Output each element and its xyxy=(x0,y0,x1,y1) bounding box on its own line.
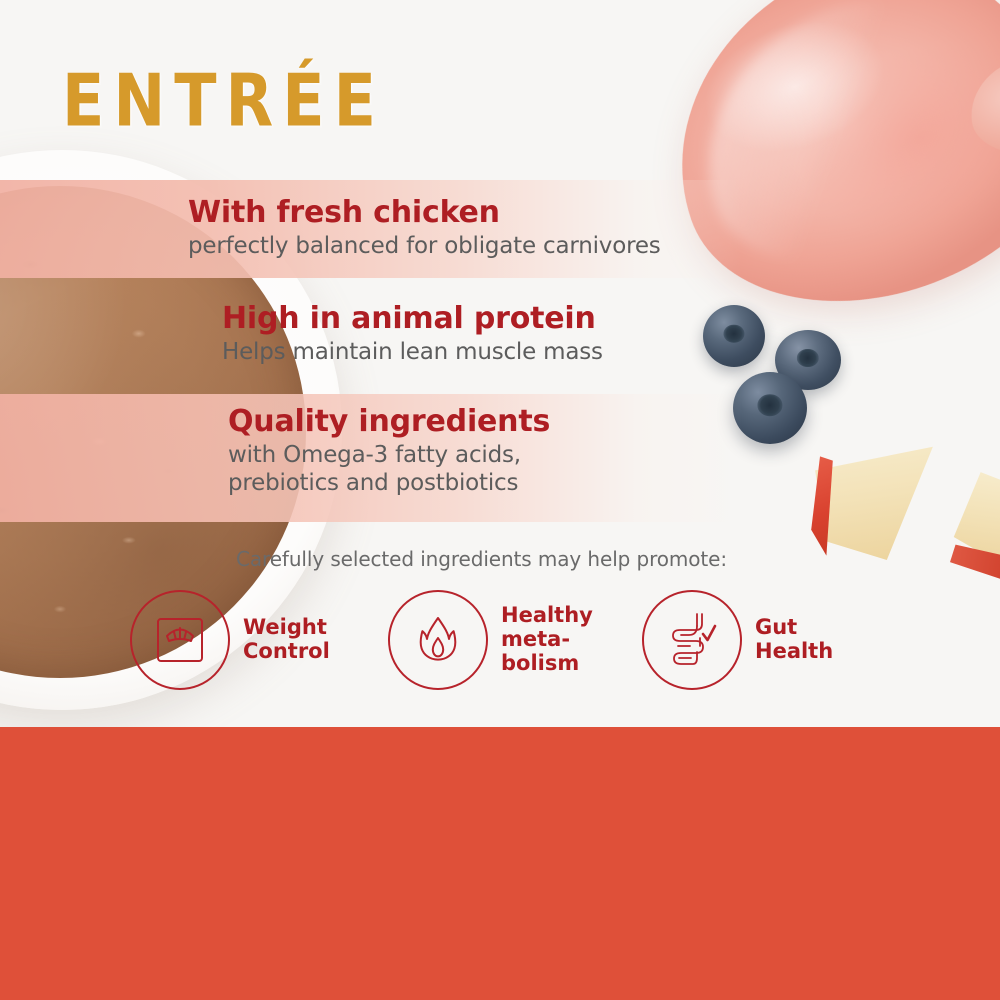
apple-wedge-skin xyxy=(950,540,1000,586)
flame-icon xyxy=(388,590,488,690)
feature-icon-row: Weight Control Healthy meta- bolism xyxy=(130,588,890,704)
apple-wedge-skin xyxy=(808,452,848,560)
weight-scale-icon xyxy=(130,590,230,690)
blueberry-photo xyxy=(703,305,765,367)
feature-healthy-metabolism: Healthy meta- bolism xyxy=(388,590,611,690)
benefit-subtext: with Omega-3 fatty acids, prebiotics and… xyxy=(228,441,550,497)
feature-label: Gut Health xyxy=(755,616,833,664)
benefit-subtext: Helps maintain lean muscle mass xyxy=(222,338,603,366)
benefit-subtext: perfectly balanced for obligate carnivor… xyxy=(188,232,661,260)
blueberry-photo xyxy=(733,372,807,444)
blueberry-photo xyxy=(775,330,841,390)
page-title: ENTRÉE xyxy=(62,58,385,143)
benefit-heading: High in animal protein xyxy=(222,303,603,335)
promote-intro-text: Carefully selected ingredients may help … xyxy=(236,547,756,571)
benefit-heading: Quality ingredients xyxy=(228,406,550,438)
feature-gut-health: Gut Health xyxy=(642,590,833,690)
feature-weight-control: Weight Control xyxy=(130,590,330,690)
chicken-breast-photo xyxy=(629,0,1000,351)
feature-label: Healthy meta- bolism xyxy=(501,604,611,676)
apple-wedge-photo xyxy=(948,470,1000,578)
benefit-item-quality-ingredients: Quality ingredients with Omega-3 fatty a… xyxy=(228,406,550,497)
feature-label: Weight Control xyxy=(243,616,330,664)
benefit-heading: With fresh chicken xyxy=(188,197,661,229)
intestine-check-icon xyxy=(642,590,742,690)
apple-wedge-photo xyxy=(810,442,938,560)
benefit-item-animal-protein: High in animal protein Helps maintain le… xyxy=(222,303,603,366)
benefit-item-fresh-chicken: With fresh chicken perfectly balanced fo… xyxy=(188,197,661,260)
no-ingredients-banner: NO grains, NO added corn, NOwheat, NO so… xyxy=(0,727,1000,1000)
product-feature-graphic: ENTRÉE With fresh chicken perfectly bala… xyxy=(0,0,1000,1000)
